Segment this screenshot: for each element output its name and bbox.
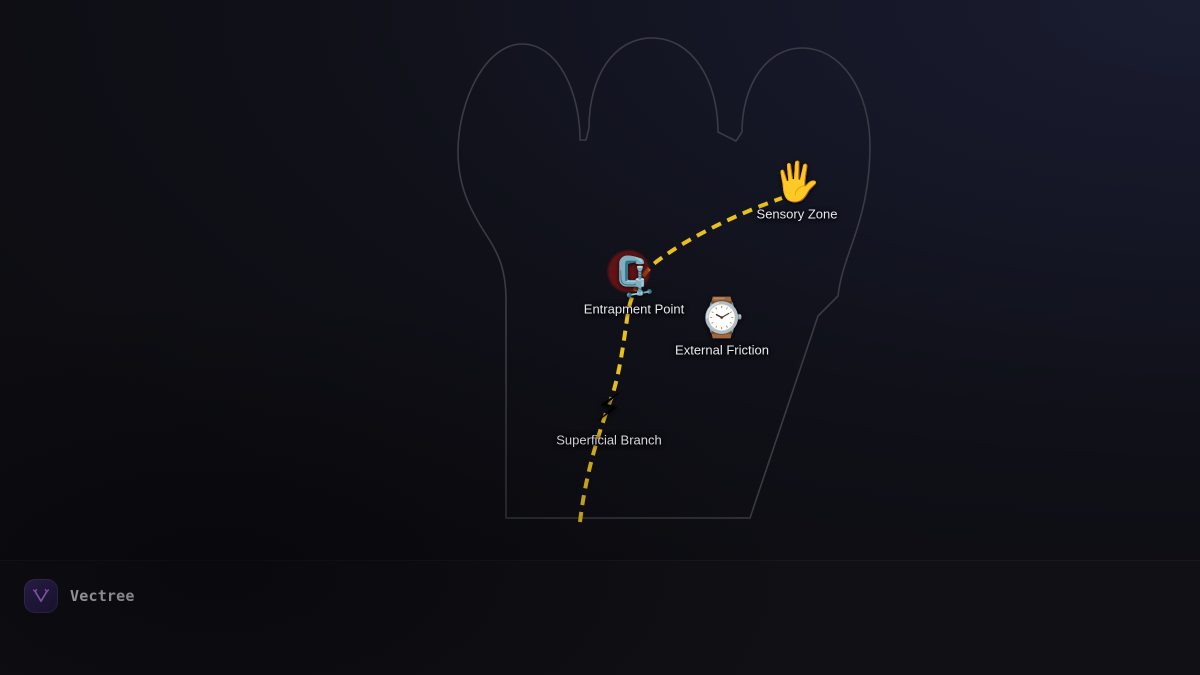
nerve-path — [580, 198, 782, 522]
high-voltage-icon: ⚡ — [596, 389, 623, 427]
node-label: Superficial Branch — [556, 433, 662, 448]
node-external-friction[interactable]: ⌚ External Friction — [675, 299, 769, 358]
logo-glyph — [30, 585, 52, 607]
watch-icon: ⌚ — [698, 299, 745, 337]
vectree-logo-icon — [24, 579, 58, 613]
node-sensory-zone[interactable]: 🖐️ Sensory Zone — [757, 163, 838, 222]
node-superficial-branch[interactable]: ⚡ Superficial Branch — [556, 389, 662, 448]
brand-name: Vectree — [70, 587, 135, 605]
raised-hand-icon: 🖐️ — [773, 163, 820, 201]
screenshot-root: 🖐️ Sensory Zone 🗜️ Entrapment Point ⌚ Ex… — [0, 0, 1200, 675]
brand-block[interactable]: Vectree — [24, 579, 135, 613]
node-label: Entrapment Point — [584, 302, 684, 317]
node-label: Sensory Zone — [757, 207, 838, 222]
footer-bar: Vectree Wartenberg's Syndrome vectree.io… — [0, 560, 1200, 675]
node-label: External Friction — [675, 343, 769, 358]
diagram-canvas[interactable]: 🖐️ Sensory Zone 🗜️ Entrapment Point ⌚ Ex… — [0, 0, 1200, 560]
node-entrapment-point[interactable]: 🗜️ Entrapment Point — [584, 258, 684, 317]
clamp-icon: 🗜️ — [610, 258, 657, 296]
